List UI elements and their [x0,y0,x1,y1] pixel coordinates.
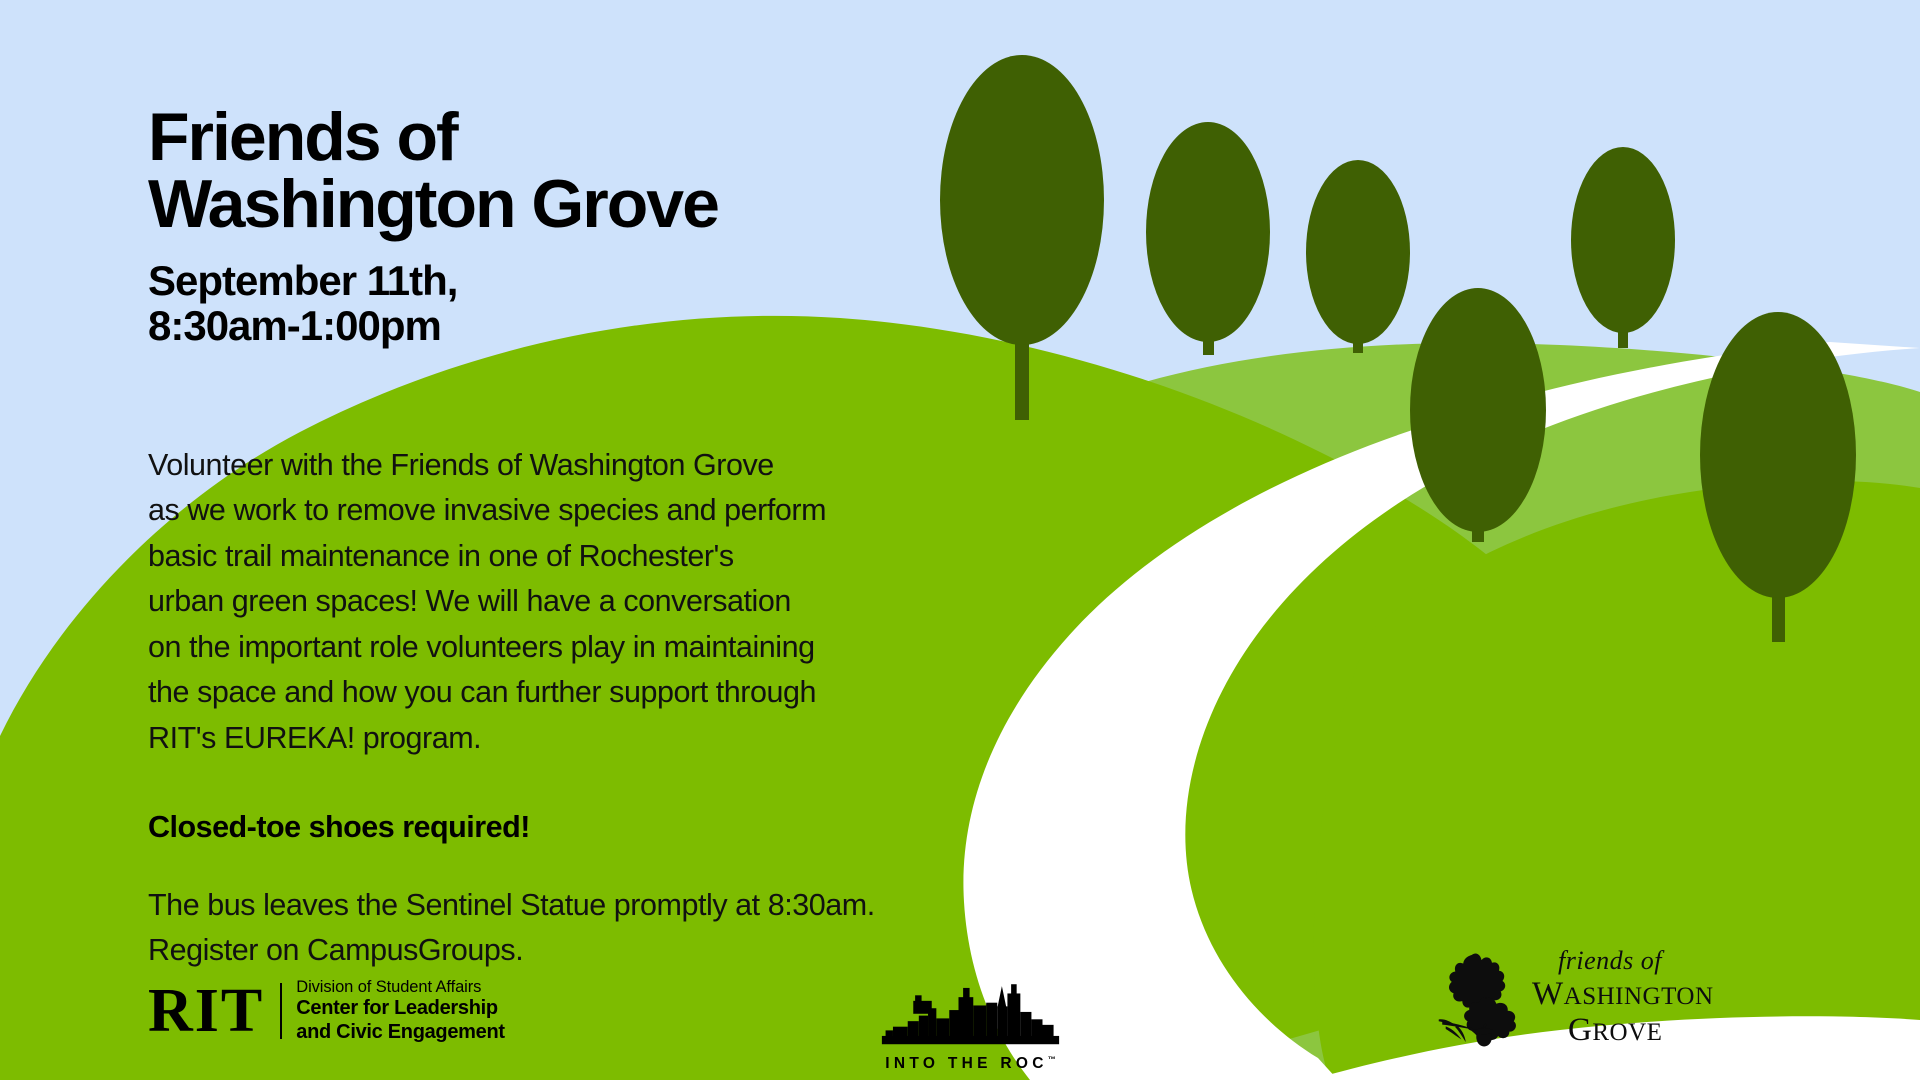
tree-crown-3 [1306,160,1410,344]
event-description: Volunteer with the Friends of Washington… [148,443,968,762]
trademark-symbol: ™ [1048,1055,1056,1064]
friends-of-washington-grove-wordmark: friends of WASHINGTON GROVE [1532,948,1714,1048]
rochester-skyline-icon [878,975,1063,1047]
rit-logo: RIT Division of Student Affairs Center f… [148,978,505,1045]
rit-logo-text: Division of Student Affairs Center for L… [296,978,505,1045]
page-title: Friends of Washington Grove [148,104,968,239]
poster-canvas: Friends of Washington Grove September 11… [0,0,1920,1080]
into-the-roc-text: INTO THE ROC [885,1055,1047,1072]
oak-leaf-acorn-icon [1430,946,1526,1051]
fowg-friends-of-line: friends of [1558,948,1714,974]
event-datetime: September 11th, 8:30am-1:00pm [148,258,908,349]
bus-and-registration-info: The bus leaves the Sentinel Statue promp… [148,883,978,973]
tree-crown-2 [1146,122,1270,342]
fowg-washington-initial: W [1532,976,1564,1012]
rit-division-label: Division of Student Affairs [296,978,505,997]
rit-wordmark: RIT [148,980,280,1042]
rit-logo-divider [280,983,282,1039]
tree-crown-4 [1571,147,1675,333]
tree-crown-6 [1700,312,1856,598]
fowg-washington-line: WASHINGTON [1532,977,1714,1013]
fowg-grove-line: GROVE [1568,1013,1714,1049]
fowg-washington-rest: ASHINGTON [1564,983,1714,1010]
friends-of-washington-grove-logo: friends of WASHINGTON GROVE [1430,938,1730,1058]
fowg-grove-rest: ROVE [1592,1019,1662,1046]
requirement-note: Closed-toe shoes required! [148,806,968,848]
tree-crown-5 [1410,288,1546,532]
poster-content: Friends of Washington Grove September 11… [148,0,988,1080]
fowg-grove-initial: G [1568,1012,1592,1048]
into-the-roc-logo: INTO THE ROC™ [878,975,1063,1073]
rit-center-line-2: and Civic Engagement [296,1021,505,1045]
into-the-roc-wordmark: INTO THE ROC™ [878,1055,1063,1073]
rit-center-line-1: Center for Leadership [296,997,505,1021]
